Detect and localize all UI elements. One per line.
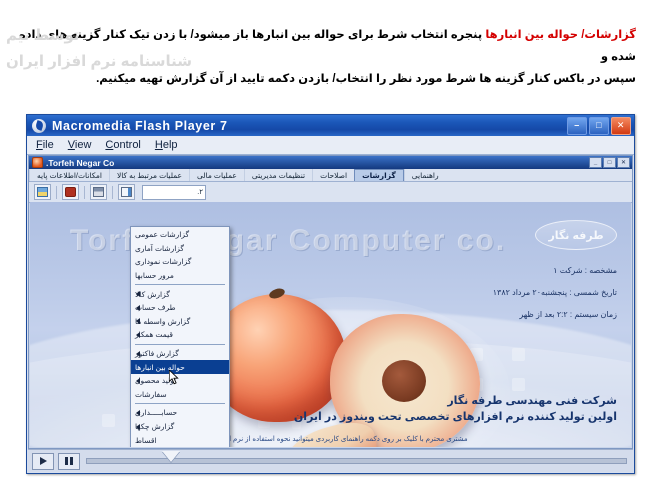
- flash-titlebar[interactable]: Macromedia Flash Player 7 – □ ✕: [27, 115, 634, 136]
- flash-window-buttons: – □ ✕: [567, 117, 634, 135]
- submenu-arrow-icon: [136, 332, 140, 338]
- flash-player-window: Macromedia Flash Player 7 – □ ✕ File Vie…: [26, 114, 635, 474]
- close-button[interactable]: ✕: [611, 117, 631, 135]
- footer-company-name: شرکت فنی مهندسی طرفه نگار: [294, 393, 617, 409]
- menu-separator: [135, 284, 225, 285]
- system-info-panel: مشخصه : شرکت ۱ تاریخ شمسی : پنجشنبه۲۰ مر…: [493, 260, 617, 326]
- menubar-item-corrections[interactable]: اصلاحات: [312, 169, 354, 181]
- menu-item-invoice-report[interactable]: گزارش فاکتور: [131, 347, 229, 361]
- calculator-icon: [93, 187, 104, 197]
- stage-ticker: مشتری محترم با کلیک بر روی دکمه راهنمای …: [30, 435, 631, 446]
- toolbar-separator: [56, 186, 57, 199]
- toolbar-separator: [84, 186, 85, 199]
- info-date: تاریخ شمسی : پنجشنبه۲۰ مرداد ۱۳۸۲: [493, 282, 617, 304]
- submenu-arrow-icon: [136, 318, 140, 324]
- exit-button[interactable]: [118, 184, 135, 200]
- menu-item-label: گزارشات عمومی: [135, 230, 189, 239]
- minimize-button[interactable]: –: [567, 117, 587, 135]
- caption-highlight: گزارشات/ حواله بین انبارها: [485, 29, 636, 41]
- menu-item-label: حواله بین انبارها: [135, 363, 185, 372]
- menu-item-label: گزارش فاکتور: [135, 349, 179, 358]
- app-window-buttons: _ □ ✕: [589, 157, 632, 168]
- flash-stage: Torfeh Negar Computer co. www.TorfehNega…: [30, 202, 631, 447]
- menubar-item-base-info[interactable]: امکانات/اطلاعات پایه: [29, 169, 109, 181]
- app-close-button[interactable]: ✕: [617, 157, 630, 168]
- menu-item-counterparty[interactable]: طرف حساب: [131, 301, 229, 315]
- menu-item-general-reports[interactable]: گزارشات عمومی: [131, 228, 229, 242]
- menu-item-cheque-report[interactable]: گزارش چکها: [131, 420, 229, 434]
- menu-item-label: تولید محصول: [135, 376, 176, 385]
- app-icon: [32, 157, 43, 168]
- submenu-arrow-icon: [136, 410, 140, 416]
- app-menubar: امکانات/اطلاعات پایه عملیات مرتبط به کال…: [29, 169, 632, 182]
- menu-view[interactable]: View: [68, 139, 92, 151]
- menu-item-partner-price[interactable]: قیمت همکار: [131, 328, 229, 342]
- menu-item-production[interactable]: تولید محصول: [131, 374, 229, 388]
- menu-item-label: گزارش واسطه ها: [135, 317, 190, 326]
- screenshot-root: گزارشات/ حواله بین انبارها پنجره انتخاب …: [0, 0, 650, 500]
- menu-item-label: گزارش چکها: [135, 422, 174, 431]
- menu-item-label: گزارشات آماری: [135, 244, 184, 253]
- stage-footer: شرکت فنی مهندسی طرفه نگار اولین تولید کن…: [294, 393, 617, 425]
- menu-item-label: طرف حساب: [135, 303, 176, 312]
- maximize-button[interactable]: □: [589, 117, 609, 135]
- phone-button[interactable]: [62, 184, 79, 200]
- menu-control[interactable]: Control: [105, 139, 140, 151]
- menu-item-chart-reports[interactable]: گزارشات نموداری: [131, 255, 229, 269]
- caption-text: گزارشات/ حواله بین انبارها پنجره انتخاب …: [0, 24, 650, 94]
- menu-item-orders[interactable]: سفارشات: [131, 388, 229, 402]
- report-button[interactable]: [34, 184, 51, 200]
- menu-separator: [135, 403, 225, 404]
- toolbar-separator: [112, 186, 113, 199]
- menubar-item-management-settings[interactable]: تنظیمات مدیریتی: [244, 169, 312, 181]
- app-window-title: .Torfeh Negar Co: [46, 158, 589, 168]
- app-titlebar[interactable]: .Torfeh Negar Co _ □ ✕: [29, 156, 632, 169]
- menu-item-statistical-reports[interactable]: گزارشات آماری: [131, 242, 229, 256]
- menu-item-label: حسابـــــداری: [135, 408, 177, 417]
- app-toolbar: ٢.: [29, 182, 632, 203]
- reports-dropdown-menu: گزارشات عمومی گزارشات آماری گزارشات نمود…: [130, 226, 230, 447]
- report-icon: [37, 187, 48, 197]
- submenu-arrow-icon: [136, 351, 140, 357]
- info-time: زمان سیستم : ۲:۲ بعد از ظهر: [493, 304, 617, 326]
- menu-item-label: گزارشات نموداری: [135, 257, 191, 266]
- menubar-item-goods-ops[interactable]: عملیات مرتبط به کالا: [109, 169, 189, 181]
- menu-separator: [135, 344, 225, 345]
- play-button[interactable]: [32, 453, 54, 470]
- pause-button[interactable]: [58, 453, 80, 470]
- exit-icon: [121, 187, 132, 197]
- flash-logo-icon: [32, 119, 46, 133]
- submenu-arrow-icon: [136, 305, 140, 311]
- app-maximize-button[interactable]: □: [603, 157, 616, 168]
- menu-item-label: مرور حسابها: [135, 271, 174, 280]
- menu-item-intermediaries-report[interactable]: گزارش واسطه ها: [131, 315, 229, 329]
- phone-icon: [65, 187, 76, 197]
- calculator-button[interactable]: [90, 184, 107, 200]
- menu-item-goods-report[interactable]: گزارش کالا: [131, 287, 229, 301]
- brand-logo: طرفه نگار: [535, 220, 617, 250]
- menu-item-label: اقساط: [135, 436, 157, 445]
- menu-item-account-review[interactable]: مرور حسابها: [131, 269, 229, 283]
- seek-thumb[interactable]: [162, 451, 180, 462]
- flash-transport-bar: [28, 449, 633, 472]
- menu-item-label: سفارشات: [135, 390, 167, 399]
- menubar-item-reports[interactable]: گزارشات: [354, 169, 404, 181]
- seek-slider[interactable]: [86, 458, 627, 464]
- menu-item-label: قیمت همکار: [135, 330, 173, 339]
- menu-item-installments[interactable]: اقساط: [131, 433, 229, 447]
- toolbar-input[interactable]: ٢.: [142, 185, 206, 200]
- menu-item-accounting[interactable]: حسابـــــداری: [131, 406, 229, 420]
- menubar-item-financial-ops[interactable]: عملیات مالی: [189, 169, 244, 181]
- app-minimize-button[interactable]: _: [589, 157, 602, 168]
- pause-icon: [65, 457, 73, 465]
- caption-line2: سپس در باکس کنار گزینه ها شرط مورد نظر ر…: [10, 68, 636, 90]
- flash-menubar: File View Control Help: [27, 136, 634, 155]
- footer-tagline: اولین تولید کننده نرم افزارهای تخصصی تحت…: [294, 409, 617, 425]
- submenu-arrow-icon: [136, 424, 140, 430]
- menu-file[interactable]: File: [36, 139, 54, 151]
- menu-help[interactable]: Help: [155, 139, 178, 151]
- torfeh-negar-app-window: .Torfeh Negar Co _ □ ✕ امکانات/اطلاعات پ…: [28, 155, 633, 449]
- menu-item-label: گزارش کالا: [135, 290, 170, 299]
- submenu-arrow-icon: [136, 291, 140, 297]
- info-company: مشخصه : شرکت ۱: [493, 260, 617, 282]
- submenu-arrow-icon: [136, 378, 140, 384]
- menu-item-inter-warehouse-transfer[interactable]: حواله بین انبارها: [131, 360, 229, 374]
- menubar-item-help[interactable]: راهنمایی: [404, 169, 446, 181]
- play-icon: [40, 457, 47, 465]
- flash-window-title: Macromedia Flash Player 7: [52, 119, 567, 133]
